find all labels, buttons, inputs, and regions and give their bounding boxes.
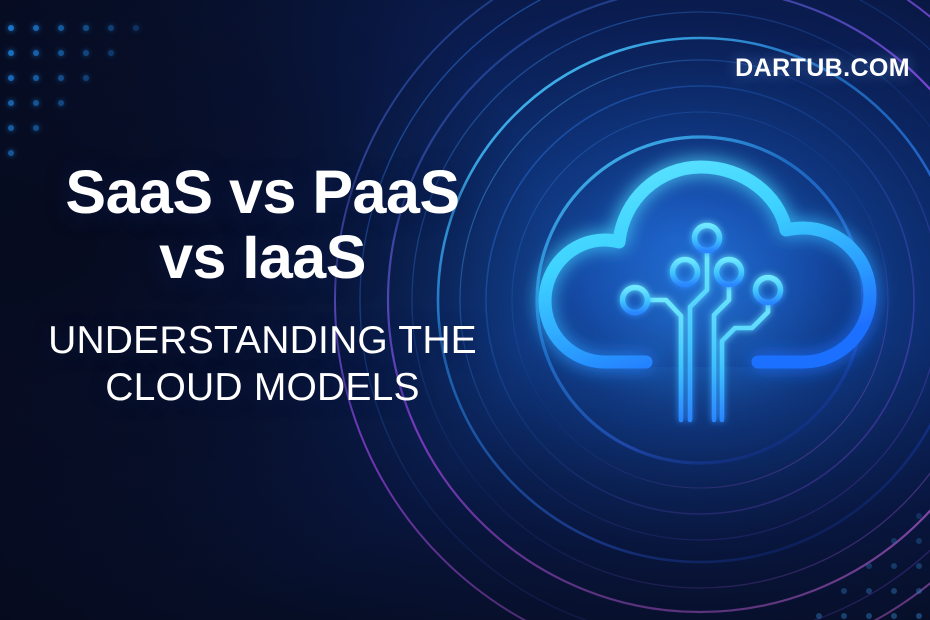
poster-canvas: DARTUB.COM SaaS vs PaaS vs IaaS UNDERSTA… — [0, 0, 930, 620]
brand-logo[interactable]: DARTUB.COM — [735, 54, 910, 83]
subtitle-line-1: UNDERSTANDING THE — [0, 317, 525, 365]
title-line-1: SaaS vs PaaS — [0, 160, 525, 225]
page-subtitle: UNDERSTANDING THE CLOUD MODELS — [0, 317, 525, 412]
title-line-2: vs IaaS — [0, 225, 525, 290]
decor-dot — [916, 588, 922, 594]
decor-dot — [891, 613, 897, 619]
decor-dot — [916, 513, 922, 519]
decor-dot — [916, 538, 922, 544]
decor-dot — [866, 588, 872, 594]
decor-dot — [891, 588, 897, 594]
page-title: SaaS vs PaaS vs IaaS — [0, 160, 525, 291]
decor-dot — [891, 538, 897, 544]
decor-dot — [866, 613, 872, 619]
hero-text-block: SaaS vs PaaS vs IaaS UNDERSTANDING THE C… — [0, 160, 525, 412]
decor-dot — [866, 563, 872, 569]
decor-dot — [916, 613, 922, 619]
decor-dot — [841, 613, 847, 619]
decor-dot — [916, 563, 922, 569]
decor-dot — [841, 588, 847, 594]
decor-dot — [816, 613, 822, 619]
decor-dot — [891, 563, 897, 569]
subtitle-line-2: CLOUD MODELS — [0, 364, 525, 412]
